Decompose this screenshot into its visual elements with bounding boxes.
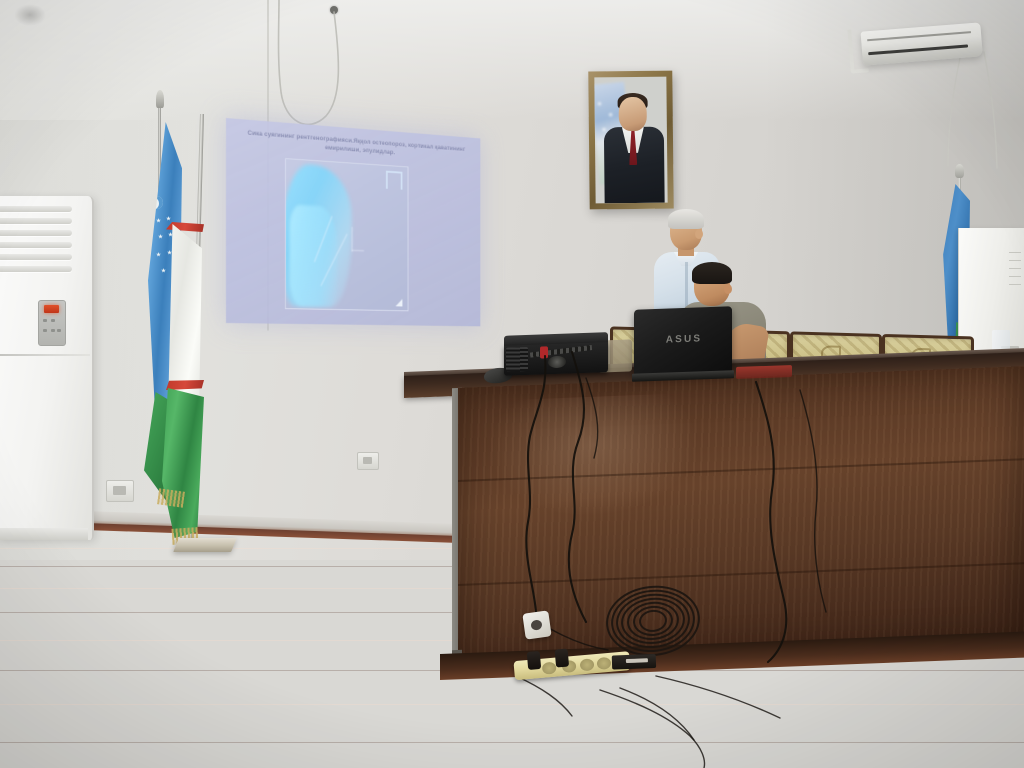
ac-display (44, 305, 59, 313)
desk-cable-bundle (736, 365, 792, 379)
ac-seam (0, 354, 90, 356)
operator-ear (724, 284, 732, 294)
power-plug (555, 649, 570, 668)
power-plug (527, 651, 542, 670)
flag-fringe-left (157, 488, 185, 507)
ceiling-smudge (14, 4, 46, 26)
portrait-image (594, 77, 667, 204)
uzbekistan-flag-left (140, 92, 226, 544)
projector-vent (506, 347, 528, 372)
ceiling-cable-mount (330, 6, 338, 14)
ac-base (0, 528, 88, 540)
operator-hair (692, 262, 732, 284)
floor-standing-ac (0, 196, 94, 540)
flag-cloth-green (162, 388, 204, 538)
flag-base-left (173, 538, 237, 552)
ac-control-panel[interactable] (38, 300, 66, 346)
presenter-ear (695, 229, 703, 239)
projector[interactable] (504, 332, 608, 378)
projection-screen: Сика суягининг рентгенографияси.Яққол ос… (226, 118, 480, 326)
slide-title: Сика суягининг рентгенографияси.Яққол ос… (243, 129, 469, 162)
ac-grille (0, 204, 76, 276)
photo-scene: Сика суягининг рентгенографияси.Яққол ос… (0, 0, 1024, 768)
presenter-hair (668, 209, 704, 229)
flag-finial-left (156, 90, 164, 108)
laptop-brand-label: ASUS (664, 333, 704, 345)
power-adapter (612, 654, 656, 670)
xray-corner-marker (386, 171, 402, 190)
xray-corner-triangle (396, 299, 403, 307)
flag-stripe-red-lower (166, 380, 204, 390)
floor-outlet[interactable] (522, 610, 551, 639)
projector-power-plug (540, 346, 548, 358)
framed-portrait (588, 71, 673, 210)
wall-outlet-center[interactable] (357, 452, 379, 470)
wall-outlet[interactable] (106, 480, 134, 502)
flag-crescent (150, 196, 163, 209)
portrait-face (619, 97, 647, 131)
flag-finial-right (955, 164, 964, 178)
xray-image (285, 158, 408, 311)
laptop[interactable]: ASUS (634, 306, 732, 381)
